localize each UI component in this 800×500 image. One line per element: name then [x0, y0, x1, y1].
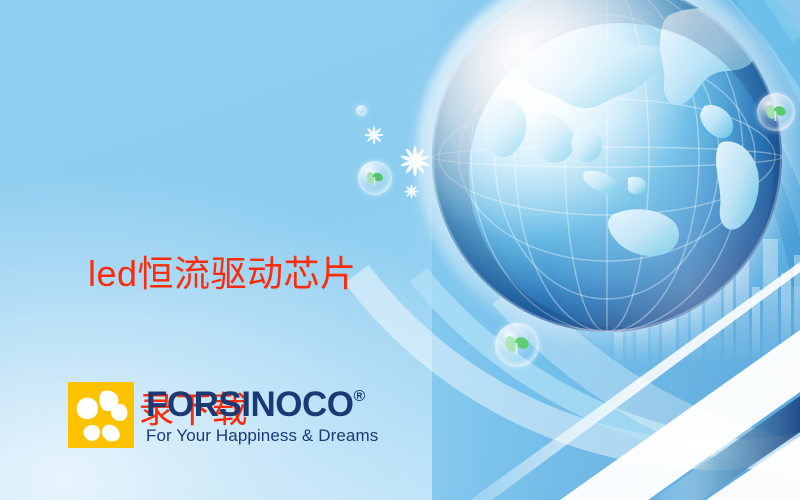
headline: led恒流驱动芯片 目录下载	[88, 166, 357, 500]
bubble-sprout-mid	[495, 323, 539, 367]
daisy-large-icon	[399, 145, 431, 177]
bubble-sprout-right	[757, 93, 795, 131]
logo-text-block: FORSINOCO ® For Your Happiness & Dreams	[146, 387, 378, 444]
green-sprout-icon	[757, 93, 795, 131]
brand-tagline: For Your Happiness & Dreams	[146, 427, 378, 444]
pinwheel-flower-icon	[68, 382, 134, 448]
company-logo: FORSINOCO ® For Your Happiness & Dreams	[68, 382, 378, 448]
brand-name: FORSINOCO ®	[146, 387, 378, 422]
daisy-medium-icon	[364, 125, 384, 145]
forsinoco-pinwheel-mark	[68, 382, 134, 448]
bubble-small-top	[356, 105, 367, 116]
headline-line-1: led恒流驱动芯片	[88, 252, 357, 295]
registered-trademark-icon: ®	[353, 389, 364, 405]
world-globe	[432, 0, 782, 332]
globe-continents-icon	[432, 0, 782, 332]
daisy-small-icon	[404, 184, 419, 199]
brand-name-text: FORSINOCO	[146, 387, 353, 422]
promo-banner: led恒流驱动芯片 目录下载 FORSINOCO ® For Your Happ…	[0, 0, 800, 500]
green-sprout-icon	[358, 161, 392, 195]
globe-sphere	[432, 0, 782, 332]
bubble-sprout-left	[358, 161, 392, 195]
green-sprout-icon	[495, 323, 539, 367]
